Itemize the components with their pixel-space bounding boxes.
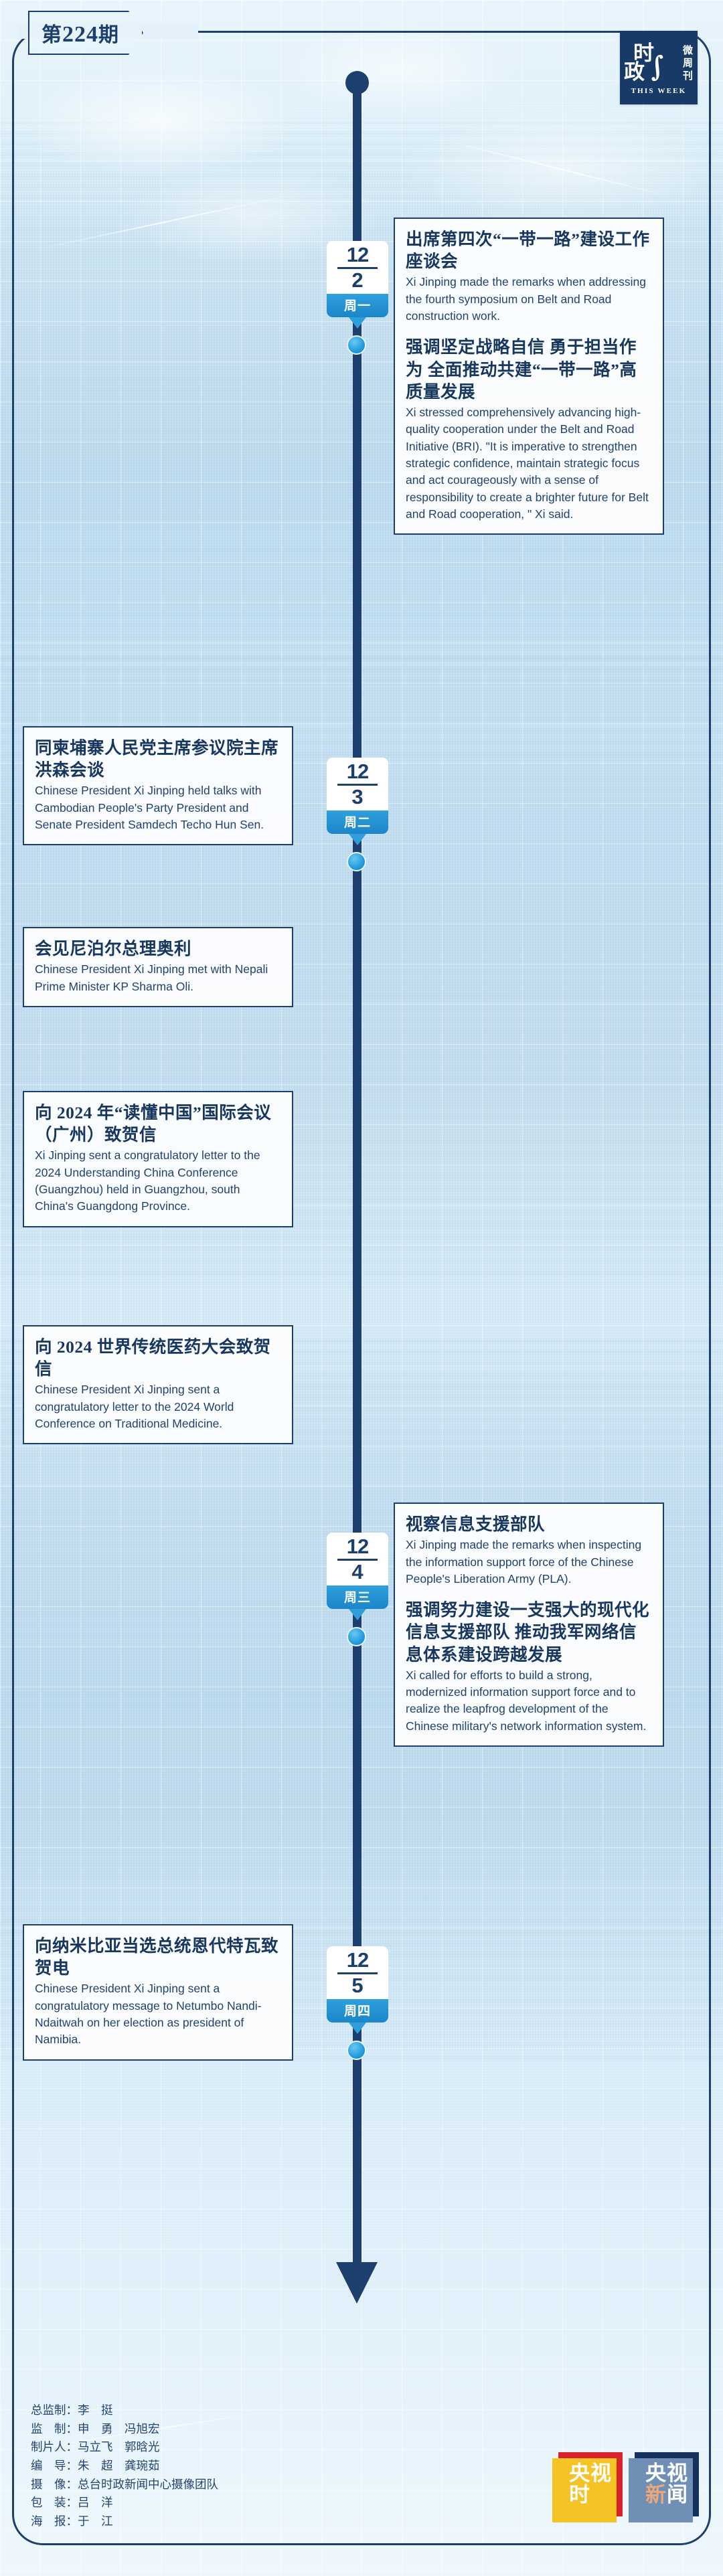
logo-line-2: 新闻 [645, 2484, 688, 2506]
event-summary-en: Xi called for efforts to build a strong,… [406, 1667, 652, 1735]
date-day: 2 [327, 270, 388, 291]
event-card-traditional-medicine[interactable]: 向 2024 世界传统医药大会致贺信 Chinese President Xi … [23, 1325, 293, 1444]
date-weekday: 周一 [327, 294, 388, 317]
date-badge-pointer-icon [349, 2023, 366, 2034]
event-headline-cn: 同柬埔寨人民党主席参议院主席洪森会谈 [35, 737, 281, 781]
date-weekday: 周三 [327, 1585, 388, 1609]
date-weekday: 周二 [327, 810, 388, 834]
event-block: 向 2024 年“读懂中国”国际会议（广州）致贺信 Xi Jinping sen… [35, 1102, 281, 1215]
issue-prefix: 第 [42, 24, 62, 46]
date-day: 5 [327, 1975, 388, 1996]
logo-line-2b: 政 [590, 2483, 612, 2506]
event-headline-cn: 视察信息支援部队 [406, 1513, 652, 1535]
event-summary-en: Chinese President Xi Jinping held talks … [35, 782, 281, 833]
logo-line-2a: 新 [645, 2483, 667, 2506]
date-day: 3 [327, 786, 388, 808]
event-headline-cn: 强调努力建设一支强大的现代化信息支援部队 推动我军网络信息体系建设跨越发展 [406, 1599, 652, 1665]
brand-swoosh-icon: ∫ [647, 50, 667, 84]
event-summary-en: Xi stressed comprehensively advancing hi… [406, 404, 652, 523]
cctv-zhengzhi-logo[interactable]: 央视 时政 [558, 2452, 623, 2516]
timeline-node-12-3 [347, 852, 366, 871]
event-block: 强调努力建设一支强大的现代化信息支援部队 推动我军网络信息体系建设跨越发展 Xi… [406, 1599, 652, 1735]
date-badge-12-5: 12 5 周四 [327, 1946, 388, 2034]
issue-suffix: 期 [98, 24, 119, 46]
date-month: 12 [327, 244, 388, 266]
production-credits: 总监制：李 挺 监 制：申 勇 冯旭宏 制片人：马立飞 郭晗光 编 导：朱 超 … [31, 2401, 218, 2530]
issue-badge: 第224期 [28, 11, 143, 55]
date-badge-12-2: 12 2 周一 [327, 241, 388, 329]
timeline-node-12-5 [347, 2041, 366, 2060]
date-badge-top: 12 3 [327, 758, 388, 810]
brand-logo-characters: 时 政 ∫ 微 周 刊 [620, 35, 698, 86]
date-badge-top: 12 5 [327, 1946, 388, 1999]
timeline-axis [353, 77, 361, 2269]
event-card-understanding-china[interactable]: 向 2024 年“读懂中国”国际会议（广州）致贺信 Xi Jinping sen… [23, 1091, 293, 1227]
event-card-namibia[interactable]: 向纳米比亚当选总统恩代特瓦致贺电 Chinese President Xi Ji… [23, 1924, 293, 2061]
event-headline-cn: 向纳米比亚当选总统恩代特瓦致贺电 [35, 1935, 281, 1979]
date-badge-pointer-icon [349, 834, 366, 845]
timeline-end-arrow-icon [336, 2262, 378, 2304]
event-summary-en: Chinese President Xi Jinping sent a cong… [35, 1980, 281, 2049]
brand-char-kan: 刊 [683, 68, 693, 82]
logo-line-2b: 闻 [667, 2483, 688, 2506]
event-summary-en: Chinese President Xi Jinping met with Ne… [35, 961, 281, 995]
event-card-cambodia[interactable]: 同柬埔寨人民党主席参议院主席洪森会谈 Chinese President Xi … [23, 726, 293, 845]
event-headline-cn: 向 2024 年“读懂中国”国际会议（广州）致贺信 [35, 1102, 281, 1146]
date-badge-top: 12 2 [327, 241, 388, 294]
date-weekday: 周四 [327, 1999, 388, 2023]
brand-char-wei: 微 [683, 43, 693, 57]
event-summary-en: Chinese President Xi Jinping sent a cong… [35, 1381, 281, 1432]
light-streak [432, 137, 679, 199]
issue-number: 224 [62, 22, 98, 47]
timeline-node-12-4 [347, 1627, 366, 1646]
event-card-nepal[interactable]: 会见尼泊尔总理奥利 Chinese President Xi Jinping m… [23, 927, 293, 1007]
cctv-news-logo[interactable]: 央视 新闻 [635, 2452, 699, 2516]
event-summary-en: Xi Jinping made the remarks when address… [406, 274, 652, 325]
event-card-12-2[interactable]: 出席第四次“一带一路”建设工作座谈会 Xi Jinping made the r… [394, 218, 664, 535]
date-badge-12-4: 12 4 周三 [327, 1533, 388, 1620]
event-block: 向 2024 世界传统医药大会致贺信 Chinese President Xi … [35, 1336, 281, 1432]
event-summary-en: Xi Jinping made the remarks when inspect… [406, 1537, 652, 1587]
event-card-12-4[interactable]: 视察信息支援部队 Xi Jinping made the remarks whe… [394, 1502, 664, 1747]
event-headline-cn: 会见尼泊尔总理奥利 [35, 938, 281, 960]
event-block: 同柬埔寨人民党主席参议院主席洪森会谈 Chinese President Xi … [35, 737, 281, 833]
logo-line-2a: 时 [569, 2483, 590, 2506]
event-summary-en: Xi Jinping sent a congratulatory letter … [35, 1147, 281, 1215]
date-badge-pointer-icon [349, 317, 366, 329]
event-block: 视察信息支援部队 Xi Jinping made the remarks whe… [406, 1513, 652, 1587]
event-headline-cn: 强调坚定战略自信 勇于担当作为 全面推动共建“一带一路”高质量发展 [406, 336, 652, 402]
date-badge-top: 12 4 [327, 1533, 388, 1585]
logo-line-1: 央视 [645, 2463, 688, 2484]
date-day: 4 [327, 1561, 388, 1583]
logo-line-1: 央视 [569, 2463, 612, 2484]
event-headline-cn: 出席第四次“一带一路”建设工作座谈会 [406, 228, 652, 272]
event-block: 强调坚定战略自信 勇于担当作为 全面推动共建“一带一路”高质量发展 Xi str… [406, 336, 652, 523]
brand-logo-english: THIS WEEK [631, 87, 687, 95]
event-block: 向纳米比亚当选总统恩代特瓦致贺电 Chinese President Xi Ji… [35, 1935, 281, 2049]
date-badge-12-3: 12 3 周二 [327, 758, 388, 845]
event-headline-cn: 向 2024 世界传统医药大会致贺信 [35, 1336, 281, 1380]
date-badge-pointer-icon [349, 1609, 366, 1620]
event-block: 出席第四次“一带一路”建设工作座谈会 Xi Jinping made the r… [406, 228, 652, 325]
brand-char-zhou: 周 [683, 56, 693, 70]
date-month: 12 [327, 1950, 388, 1971]
date-month: 12 [327, 1536, 388, 1557]
brand-logo: 时 政 ∫ 微 周 刊 THIS WEEK [620, 31, 698, 104]
brand-char-zheng: 政 [624, 55, 645, 85]
date-month: 12 [327, 761, 388, 782]
light-streak [29, 191, 305, 251]
logo-line-2: 时政 [569, 2484, 612, 2506]
timeline-node-12-2 [347, 335, 366, 355]
event-block: 会见尼泊尔总理奥利 Chinese President Xi Jinping m… [35, 938, 281, 995]
footer-logos: 央视 时政 央视 新闻 [558, 2452, 699, 2516]
